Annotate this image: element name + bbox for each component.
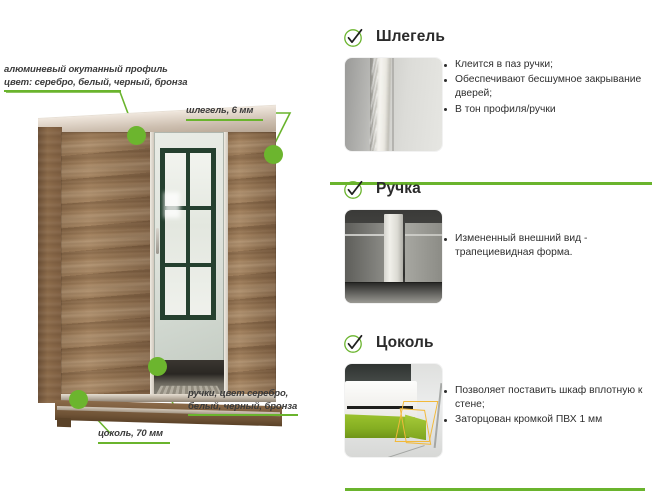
mirror-glow-left	[164, 192, 180, 218]
bullet-item: Позволяет поставить шкаф вплотную к стен…	[442, 384, 644, 412]
callout-plinth-line1: цоколь, 70 мм	[98, 428, 170, 441]
mirror-door-handle	[156, 228, 159, 254]
callout-dot-handles	[148, 357, 167, 376]
feature-section-ruchka: Ручка Измененный внешний вид - трапециев…	[330, 176, 652, 303]
callout-profile: алюминевый окутанный профиль цвет: сереб…	[4, 64, 187, 92]
photo-highlight-left	[345, 234, 384, 236]
bullet-item: Измененный внешний вид - трапециевидная …	[442, 232, 644, 260]
check-circle-icon	[343, 26, 365, 48]
callout-dot-shlegel	[264, 145, 283, 164]
callout-handles: ручки, цвет серебро, белый, черный, брон…	[188, 388, 298, 416]
photo-brush-strip	[373, 58, 391, 151]
feature-title-shlegel: Шлегель	[376, 28, 445, 46]
callout-profile-line2: цвет: серебро, белый, черный, бронза	[4, 77, 187, 90]
plinth-closeup-photo	[345, 364, 442, 457]
wardrobe-foot	[57, 418, 71, 427]
photo-floor	[345, 283, 442, 303]
feature-header-tsokol: Цоколь	[330, 330, 652, 356]
feature-section-shlegel: Шлегель Клеится в паз ручки; Обеспечиваю…	[330, 24, 652, 151]
callout-profile-underline	[4, 90, 121, 92]
check-circle-icon	[343, 332, 365, 354]
feature-bullets-shlegel: Клеится в паз ручки; Обеспечивают бесшум…	[442, 58, 652, 118]
check-circle-icon	[343, 178, 365, 200]
photo-highlight-right	[405, 234, 442, 236]
callout-handles-underline	[188, 414, 298, 416]
section-divider-2	[345, 488, 645, 491]
callout-handles-line2: белый, черный, бронза	[188, 401, 298, 414]
wardrobe-left-side-panel	[38, 127, 62, 403]
feature-header-shlegel: Шлегель	[330, 24, 652, 50]
bullet-item: Заторцован кромкой ПВХ 1 мм	[442, 413, 644, 427]
feature-body-ruchka: Измененный внешний вид - трапециевидная …	[330, 210, 652, 303]
callout-handles-line1: ручки, цвет серебро,	[188, 388, 298, 401]
callout-dot-plinth	[69, 390, 88, 409]
door-edge-left	[224, 132, 228, 400]
callout-profile-line1: алюминевый окутанный профиль	[4, 64, 187, 77]
features-panel: Шлегель Клеится в паз ручки; Обеспечиваю…	[330, 0, 652, 500]
wardrobe-door-area	[61, 132, 276, 400]
feature-bullets-tsokol: Позволяет поставить шкаф вплотную к стен…	[442, 364, 652, 429]
callout-shlegel-line1: шлегель, 6 мм	[186, 105, 263, 118]
callout-plinth-underline	[98, 442, 170, 444]
feature-header-ruchka: Ручка	[330, 176, 652, 202]
wardrobe-illustration-panel: алюминевый окутанный профиль цвет: сереб…	[0, 0, 330, 500]
mirror-mullion	[165, 263, 211, 267]
bullet-item: Клеится в паз ручки;	[442, 58, 644, 72]
photo-handle-profile	[384, 214, 403, 290]
handle-closeup-photo	[345, 210, 442, 303]
callout-shlegel-underline	[186, 119, 263, 121]
feature-section-tsokol: Цоколь Позволяет поставить шкаф вплотную…	[330, 330, 652, 457]
wardrobe-door-left	[61, 132, 154, 400]
shlegel-brush-photo	[345, 58, 442, 151]
feature-title-ruchka: Ручка	[376, 180, 421, 198]
wardrobe-door-right	[224, 132, 276, 400]
callout-plinth: цоколь, 70 мм	[98, 428, 170, 444]
photo-door-left	[345, 223, 384, 288]
feature-body-tsokol: Позволяет поставить шкаф вплотную к стен…	[330, 364, 652, 457]
photo-door-right	[405, 223, 442, 288]
feature-title-tsokol: Цоколь	[376, 334, 434, 352]
photo-seam-right	[392, 58, 394, 151]
callout-shlegel: шлегель, 6 мм	[186, 105, 263, 121]
feature-bullets-ruchka: Измененный внешний вид - трапециевидная …	[442, 210, 652, 261]
bullet-item: В тон профиля/ручки	[442, 103, 644, 117]
mirror-window-reflection	[160, 148, 216, 320]
infographic-root: алюминевый окутанный профиль цвет: сереб…	[0, 0, 652, 500]
callout-dot-profile	[127, 126, 146, 145]
photo-floor-line	[369, 445, 425, 457]
bullet-item: Обеспечивают бесшумное закрывание дверей…	[442, 73, 644, 101]
feature-body-shlegel: Клеится в паз ручки; Обеспечивают бесшум…	[330, 58, 652, 151]
